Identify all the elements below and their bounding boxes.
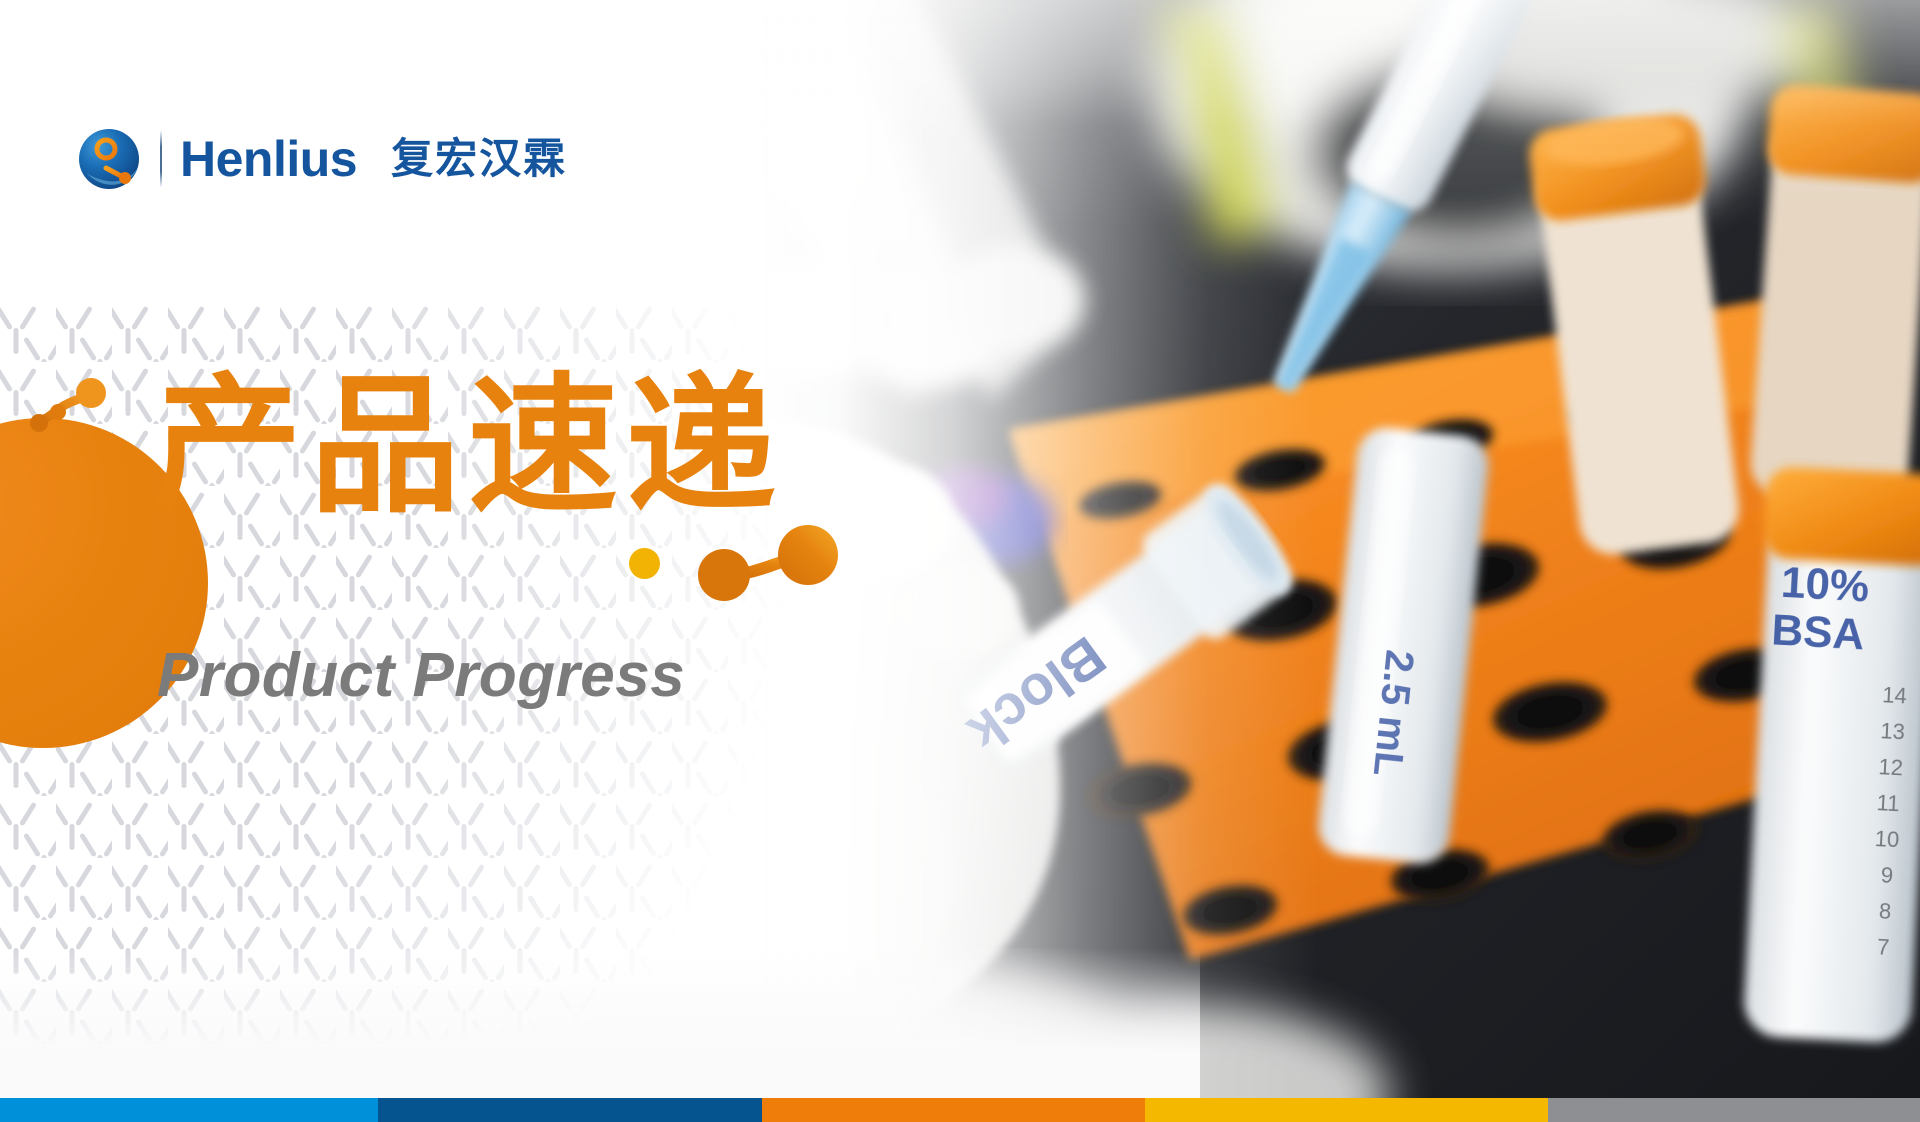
svg-text:13: 13 (1880, 718, 1906, 744)
molecule-dumbbell-decor-large (698, 525, 846, 603)
molecule-dumbbell-large-svg (698, 525, 846, 603)
segment-orange (762, 1098, 1145, 1122)
molecule-dumbbell-decor-small (28, 378, 118, 442)
logo-chinese-name: 复宏汉霖 (391, 138, 567, 180)
svg-text:10%: 10% (1780, 558, 1871, 612)
segment-light-blue (0, 1098, 378, 1122)
laboratory-photo-illustration: Block 2.5 mL (760, 0, 1920, 1098)
segment-dark-blue (378, 1098, 762, 1122)
henlius-molecule-logo-icon (78, 128, 140, 190)
bottom-color-bar (0, 1098, 1920, 1122)
svg-text:7: 7 (1876, 934, 1890, 960)
logo-wordmark: Henlius (180, 134, 357, 184)
page-subtitle-english: Product Progress (157, 645, 685, 707)
segment-amber (1145, 1098, 1548, 1122)
svg-text:11: 11 (1876, 790, 1900, 816)
svg-text:14: 14 (1882, 682, 1908, 708)
svg-text:BSA: BSA (1770, 605, 1865, 659)
brand-logo[interactable]: Henlius 复宏汉霖 (78, 128, 567, 190)
presentation-slide: Block 2.5 mL (0, 0, 1920, 1122)
molecule-dumbbell-small-svg (28, 378, 118, 442)
laboratory-photo: Block 2.5 mL (760, 0, 1920, 1098)
logo-mark-svg (78, 128, 140, 190)
svg-text:10: 10 (1874, 826, 1900, 852)
logo-divider (160, 131, 162, 187)
svg-text:8: 8 (1878, 898, 1892, 924)
svg-text:9: 9 (1880, 862, 1894, 888)
segment-gray (1548, 1098, 1920, 1122)
page-title-chinese: 产品速递 (152, 370, 784, 523)
svg-text:12: 12 (1878, 754, 1904, 780)
amber-dot-decor (629, 548, 660, 579)
